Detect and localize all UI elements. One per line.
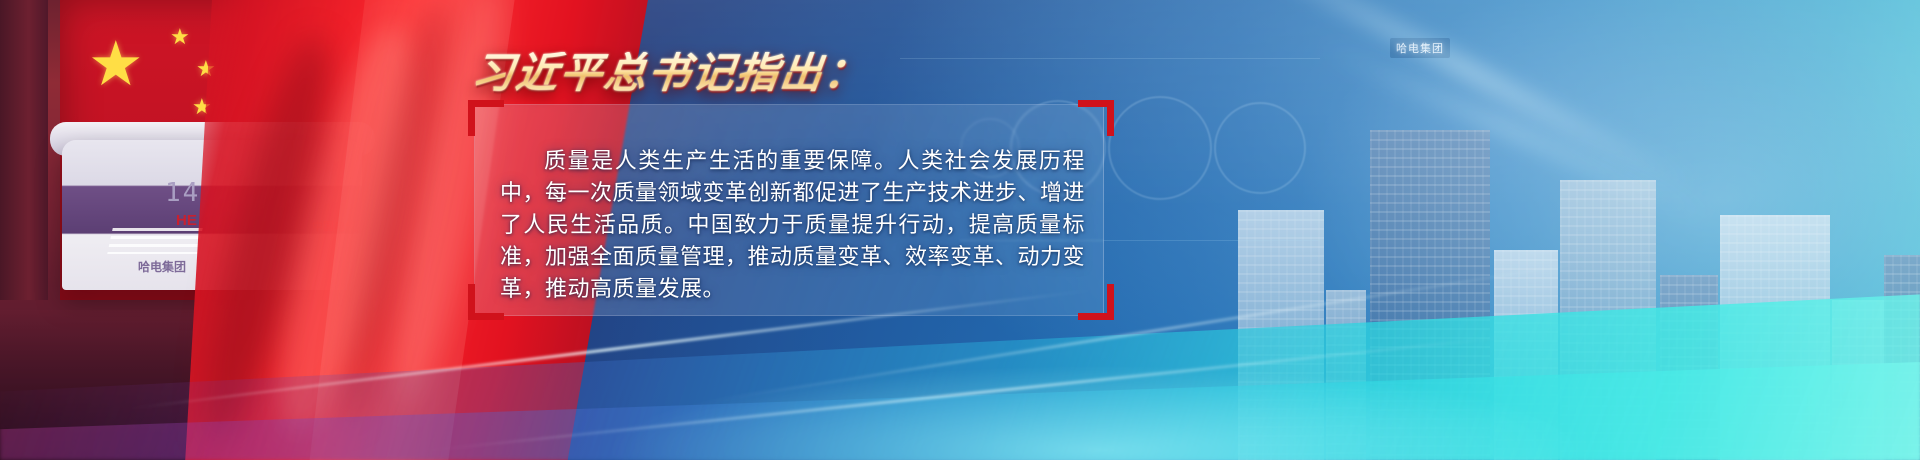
generator-brand-label: 哈电集团	[138, 258, 186, 275]
banner-root: 哈电集团 ★ ★ ★ ★ ★ 14 HE 哈电集团 中国电气 习近平总	[0, 0, 1920, 460]
corner-bracket-top-left	[468, 100, 504, 136]
corner-bracket-top-right	[1078, 100, 1114, 136]
corner-bracket-bottom-left	[468, 284, 504, 320]
generator-number: 14	[165, 178, 200, 208]
flag-star-large: ★	[88, 34, 144, 96]
quote-text: 质量是人类生产生活的重要保障。人类社会发展历程中，每一次质量领域变革创新都促进了…	[500, 146, 1085, 306]
generator-stripes	[107, 228, 203, 254]
flag-star-small: ★	[170, 26, 190, 48]
hall-pillar	[0, 0, 48, 300]
page-title: 习近平总书记指出：	[469, 52, 870, 94]
generator-badge: HE	[176, 212, 197, 229]
